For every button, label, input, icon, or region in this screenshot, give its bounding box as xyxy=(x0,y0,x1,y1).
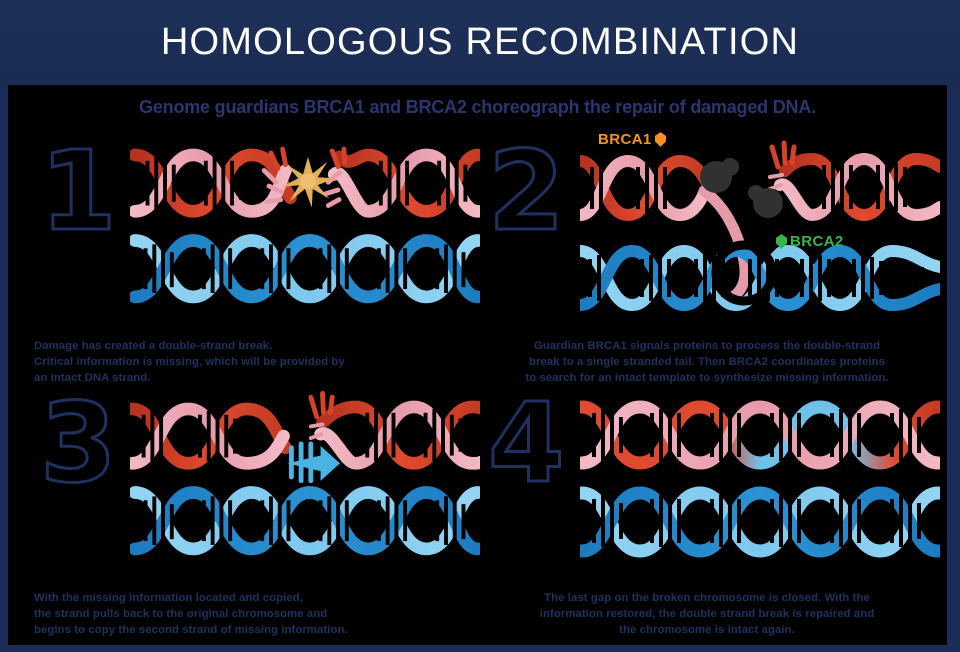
poster-header: HOMOLOGOUS RECOMBINATION xyxy=(0,0,960,85)
panel-3-illustration xyxy=(130,385,480,565)
dna-break-svg xyxy=(130,133,480,313)
shield-icon xyxy=(776,234,787,249)
panel-number-4: 4 xyxy=(488,393,565,493)
caption-line: With the missing information located and… xyxy=(34,590,474,606)
caption-line: Critical information is missing, which w… xyxy=(34,354,474,370)
panel-number-3: 3 xyxy=(40,393,117,493)
panel-double-strand-break: 1 xyxy=(30,133,480,388)
caption-line: Guardian BRCA1 signals proteins to proce… xyxy=(476,338,938,354)
page-title: HOMOLOGOUS RECOMBINATION xyxy=(161,21,799,64)
content-canvas: Genome guardians BRCA1 and BRCA2 choreog… xyxy=(8,85,947,645)
red-helix-right-copy xyxy=(311,393,480,463)
panel-2-illustration: BRCA1 BRCA2 xyxy=(580,133,940,313)
caption-line: begins to copy the second strand of miss… xyxy=(34,622,474,638)
caption-line: information restored, the double strand … xyxy=(476,606,938,622)
red-helix-left xyxy=(135,149,291,211)
caption-line: the strand pulls back to the original ch… xyxy=(34,606,474,622)
infographic-poster: HOMOLOGOUS RECOMBINATION Genome guardian… xyxy=(0,0,960,652)
panel-strand-copy: 3 xyxy=(30,385,480,640)
panel-repaired-chromosome: 4 xyxy=(470,385,940,640)
copied-segment-arrow-icon xyxy=(288,444,341,481)
brca2-label: BRCA2 xyxy=(776,233,844,250)
brca1-label: BRCA1 xyxy=(598,131,666,148)
panel-3-caption: With the missing information located and… xyxy=(34,590,474,638)
red-helix-right-resected xyxy=(770,143,940,215)
caption-line: The last gap on the broken chromosome is… xyxy=(476,590,938,606)
brca1-text: BRCA1 xyxy=(598,131,652,148)
blue-helix-template-3 xyxy=(135,493,478,549)
dna-copy-svg xyxy=(130,385,480,565)
red-helix-left-resected xyxy=(580,161,710,215)
caption-line: break to a single stranded tail. Then BR… xyxy=(476,354,938,370)
red-helix-repaired xyxy=(582,407,938,463)
panel-4-caption: The last gap on the broken chromosome is… xyxy=(476,590,938,638)
dna-resection-svg xyxy=(580,133,940,313)
brca2-text: BRCA2 xyxy=(790,233,844,250)
panel-number-1: 1 xyxy=(40,141,117,241)
caption-line: Damage has created a double-strand break… xyxy=(34,338,474,354)
red-helix-left-copy xyxy=(132,409,286,463)
panel-brca-signaling: 2 xyxy=(470,133,940,388)
dna-repaired-svg xyxy=(580,385,940,565)
blue-helix-intact xyxy=(135,241,478,297)
blue-helix-intact-4 xyxy=(582,493,938,551)
red-helix-right xyxy=(325,149,478,211)
panel-1-illustration xyxy=(130,133,480,313)
subtitle: Genome guardians BRCA1 and BRCA2 choreog… xyxy=(8,97,947,118)
caption-line: the chromosome is intact again. xyxy=(476,622,938,638)
shield-icon xyxy=(655,132,666,147)
panel-4-illustration xyxy=(580,385,940,565)
panel-number-2: 2 xyxy=(488,141,565,241)
